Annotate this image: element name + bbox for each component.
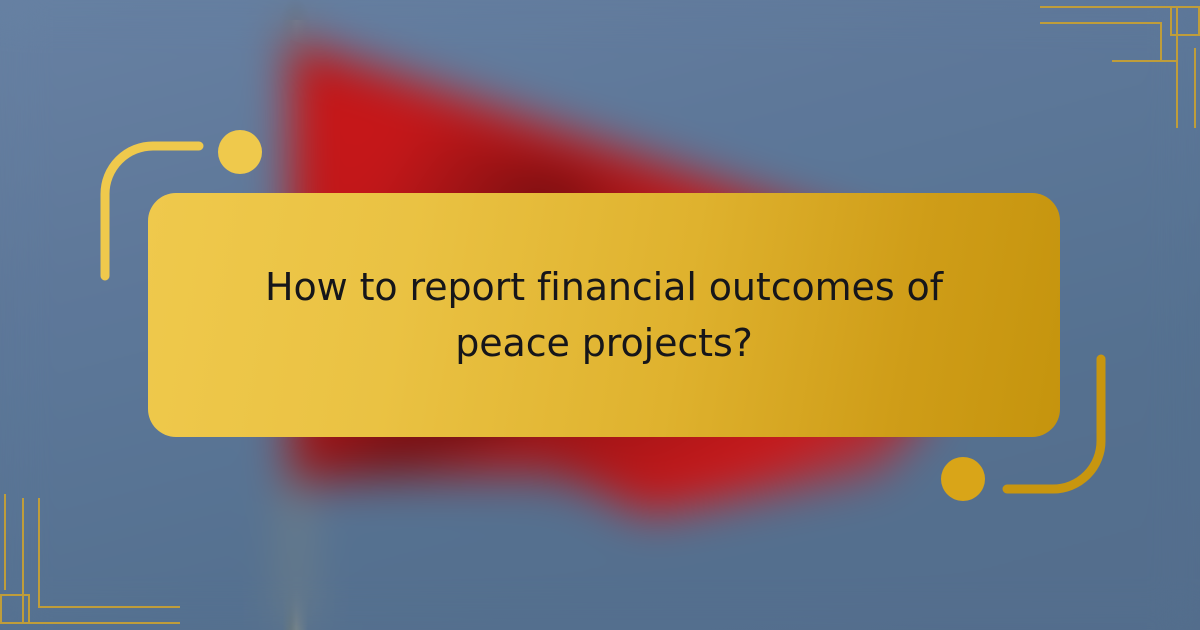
- title-card: How to report financial outcomes of peac…: [148, 193, 1060, 437]
- page-title: How to report financial outcomes of peac…: [204, 259, 1004, 371]
- share-card-canvas: How to report financial outcomes of peac…: [0, 0, 1200, 630]
- bottom-right-dot: [941, 457, 985, 501]
- top-left-dot: [218, 130, 262, 174]
